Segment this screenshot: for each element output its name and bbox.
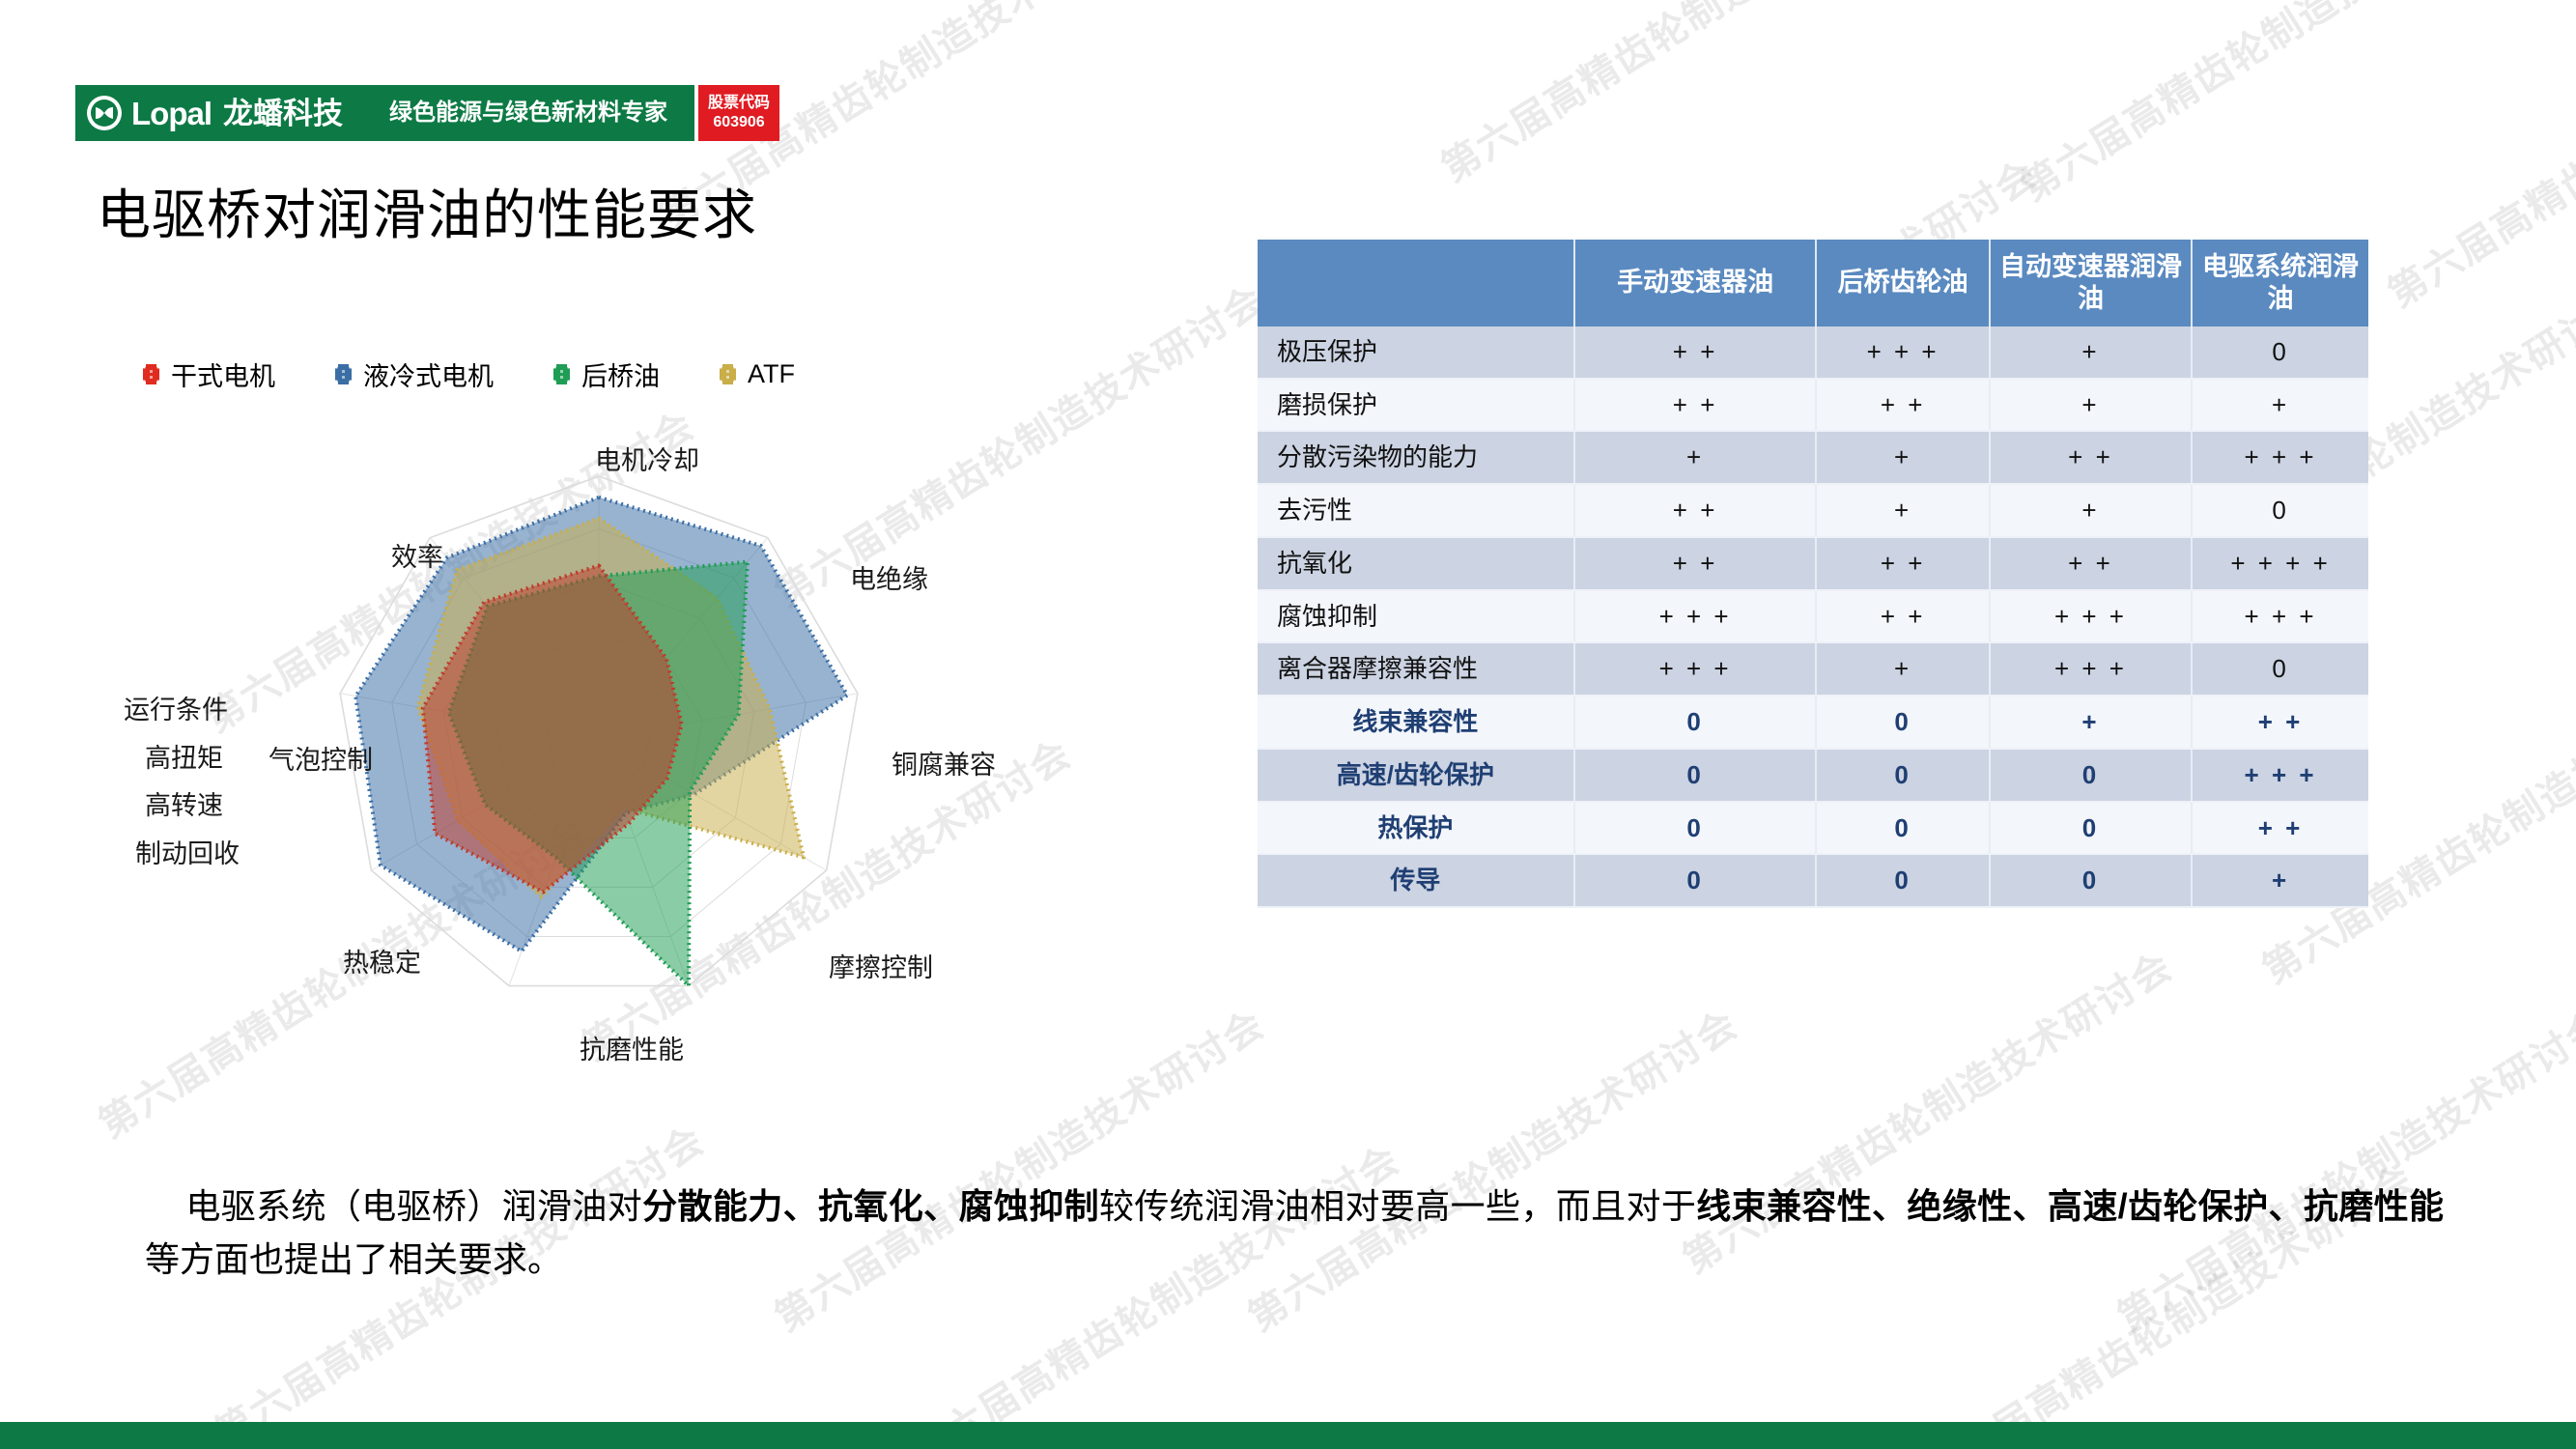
cell-value: + + + + <box>2230 549 2330 578</box>
table-row: 分散污染物的能力+++ ++ + + <box>1258 431 2368 484</box>
table-cell-r2-c1: + <box>1816 431 1989 484</box>
cell-value: 0 <box>2082 813 2099 842</box>
table-row: 高速/齿轮保护000+ + + <box>1258 749 2368 802</box>
page-title: 电驱桥对润滑油的性能要求 <box>97 172 757 250</box>
table-cell-r10-c2: 0 <box>1990 854 2192 907</box>
legend-label: 液冷式电机 <box>363 355 494 393</box>
cell-value: + + <box>1881 390 1926 419</box>
brand-name-cn: 龙蟠科技 <box>223 99 343 128</box>
table-cell-r7-c2: + <box>1990 696 2192 749</box>
table-cell-r0-c1: + + + <box>1816 327 1989 379</box>
table-cell-r8-c1: 0 <box>1816 749 1989 802</box>
table-cell-r2-c2: + + <box>1990 431 2192 484</box>
radar-axis-label-11: 效率 <box>391 536 443 574</box>
cell-value: + + + <box>1659 602 1732 631</box>
table-cell-r0-c0: + + <box>1574 327 1817 379</box>
table-cell-r1-c2: + <box>1990 379 2192 432</box>
table-row: 热保护000+ + <box>1258 802 2368 855</box>
caption-segment-2: 较传统润滑油相对要高一些，而且对于 <box>1099 1186 1696 1226</box>
summary-caption: 电驱系统（电驱桥）润滑油对分散能力、抗氧化、腐蚀抑制较传统润滑油相对要高一些，而… <box>145 1180 2444 1286</box>
cell-value: 0 <box>2272 496 2288 525</box>
table-header: 手动变速器油后桥齿轮油自动变速器润滑油电驱系统润滑油 <box>1258 240 2368 327</box>
cell-value: + + <box>1881 549 1926 578</box>
legend-item-2: 后桥油 <box>553 355 660 393</box>
cell-value: 0 <box>1686 813 1703 842</box>
cell-value: 0 <box>1894 866 1911 895</box>
radar-axis-label-4: 抗磨性能 <box>580 1029 684 1066</box>
cell-value: + + <box>2258 813 2304 842</box>
lopal-swirl-icon <box>87 96 122 130</box>
table-row-header: 腐蚀抑制 <box>1258 590 1574 643</box>
cell-value: 0 <box>2272 337 2288 366</box>
cell-value: + + + <box>2054 654 2127 683</box>
caption-segment-1: 分散能力、抗氧化、腐蚀抑制 <box>642 1186 1099 1226</box>
table-cell-r9-c0: 0 <box>1574 802 1817 855</box>
cell-value: 0 <box>1894 760 1911 789</box>
table-row-header: 磨损保护 <box>1258 379 1574 432</box>
watermark-text: 第六届高精齿轮制造技术研讨会 <box>897 1129 1408 1449</box>
table-cell-r10-c3: + <box>2192 854 2368 907</box>
radar-legend: 干式电机液冷式电机后桥油ATF <box>143 355 795 393</box>
radar-axis-label-1: 电绝缘 <box>850 558 928 596</box>
radar-axis-label-0: 电机冷却 <box>595 440 699 477</box>
table-row: 极压保护+ ++ + ++0 <box>1258 327 2368 379</box>
table-col-header-2: 后桥齿轮油 <box>1816 240 1989 327</box>
caption-segment-0: 电驱系统（电驱桥）润滑油对 <box>185 1186 642 1226</box>
caption-segment-4: 等方面也提出了相关要求。 <box>145 1239 562 1279</box>
cell-value: + <box>1686 442 1704 471</box>
table-row-header: 极压保护 <box>1258 327 1574 379</box>
table-cell-r4-c0: + + <box>1574 537 1817 590</box>
cell-value: + + + <box>1867 337 1939 366</box>
radar-axis-label-2: 铜腐兼容 <box>892 744 996 781</box>
watermark-text: 第六届高精齿轮制造技术研讨会 <box>2008 0 2519 212</box>
cell-value: 0 <box>1894 813 1911 842</box>
cell-value: + <box>2081 390 2099 419</box>
table-row-header: 离合器摩擦兼容性 <box>1258 642 1574 696</box>
cell-value: 0 <box>1686 707 1703 736</box>
table-row-header: 热保护 <box>1258 802 1574 855</box>
table-row: 去污性+ +++0 <box>1258 484 2368 537</box>
cell-value: + + <box>2068 549 2113 578</box>
legend-item-1: 液冷式电机 <box>335 355 494 393</box>
legend-swatch-icon <box>553 364 570 384</box>
cell-value: + + + <box>1659 654 1732 683</box>
table-corner-cell <box>1258 240 1574 327</box>
cell-value: 0 <box>2272 654 2288 683</box>
cell-value: + + <box>1673 496 1718 525</box>
cell-value: + + <box>1881 602 1926 631</box>
radar-axis-label-5: 热稳定 <box>343 942 421 980</box>
table-cell-r3-c0: + + <box>1574 484 1817 537</box>
table-cell-r7-c3: + + <box>2192 696 2368 749</box>
table-row-header: 抗氧化 <box>1258 537 1574 590</box>
table-row: 磨损保护+ ++ +++ <box>1258 379 2368 432</box>
cell-value: + <box>1894 654 1911 683</box>
watermark-text: 第六届高精齿轮制造技术研讨会 <box>1235 994 1746 1343</box>
table-cell-r3-c3: 0 <box>2192 484 2368 537</box>
table-cell-r4-c3: + + + + <box>2192 537 2368 590</box>
legend-label: 干式电机 <box>171 355 275 393</box>
table-row-header: 去污性 <box>1258 484 1574 537</box>
cell-value: + <box>2081 337 2099 366</box>
table-cell-r8-c0: 0 <box>1574 749 1817 802</box>
table-cell-r1-c0: + + <box>1574 379 1817 432</box>
cell-value: + <box>2272 866 2289 895</box>
stock-code-label: 股票代码 <box>708 94 770 113</box>
radar-axis-label-6: 气泡控制 <box>269 739 373 777</box>
table-cell-r1-c3: + <box>2192 379 2368 432</box>
table-row: 腐蚀抑制+ + ++ ++ + ++ + + <box>1258 590 2368 643</box>
cell-value: 0 <box>1686 866 1703 895</box>
table-row-header: 线束兼容性 <box>1258 696 1574 749</box>
table-row: 传导000+ <box>1258 854 2368 907</box>
cell-value: + + <box>1673 549 1718 578</box>
table-cell-r2-c3: + + + <box>2192 431 2368 484</box>
legend-label: 后桥油 <box>581 355 660 393</box>
table-cell-r7-c0: 0 <box>1574 696 1817 749</box>
cell-value: + <box>1894 442 1911 471</box>
table-cell-r5-c0: + + + <box>1574 590 1817 643</box>
watermark-text: 第六届高精齿轮制造技术研讨会 <box>2375 0 2576 318</box>
table-cell-r5-c1: + + <box>1816 590 1989 643</box>
table-cell-r2-c0: + <box>1574 431 1817 484</box>
table-cell-r6-c2: + + + <box>1990 642 2192 696</box>
table-body: 极压保护+ ++ + ++0磨损保护+ ++ +++分散污染物的能力+++ ++… <box>1258 327 2368 907</box>
stock-code-badge: 股票代码 603906 <box>698 85 779 141</box>
table-cell-r4-c1: + + <box>1816 537 1989 590</box>
cell-value: + + <box>2258 707 2304 736</box>
cell-value: + + <box>1673 337 1718 366</box>
brand-name-en: Lopal <box>131 98 212 129</box>
cell-value: + <box>2081 496 2099 525</box>
table-cell-r10-c0: 0 <box>1574 854 1817 907</box>
table-cell-r3-c1: + <box>1816 484 1989 537</box>
cell-value: 0 <box>2082 866 2099 895</box>
table-cell-r6-c1: + <box>1816 642 1989 696</box>
cell-value: + + + <box>2245 760 2317 789</box>
brand-tagline: 绿色能源与绿色新材料专家 <box>389 101 667 125</box>
cell-value: + <box>2081 707 2099 736</box>
legend-swatch-icon <box>143 364 159 384</box>
radar-axis-label-3: 摩擦控制 <box>829 947 933 984</box>
table-col-header-3: 自动变速器润滑油 <box>1990 240 2192 327</box>
table-cell-r8-c2: 0 <box>1990 749 2192 802</box>
performance-requirements-table: 手动变速器油后桥齿轮油自动变速器润滑油电驱系统润滑油 极压保护+ ++ + ++… <box>1258 240 2368 908</box>
legend-item-3: ATF <box>720 359 795 389</box>
watermark-text: 第六届高精齿轮制造技术研讨会 <box>1429 0 1939 192</box>
table-cell-r0-c3: 0 <box>2192 327 2368 379</box>
table-cell-r5-c3: + + + <box>2192 590 2368 643</box>
cell-value: + + + <box>2245 602 2317 631</box>
legend-swatch-icon <box>335 364 352 384</box>
legend-swatch-icon <box>720 364 736 384</box>
cell-value: + + + <box>2245 442 2317 471</box>
footer-bar <box>0 1422 2576 1449</box>
cell-value: + + <box>1673 390 1718 419</box>
table-cell-r9-c2: 0 <box>1990 802 2192 855</box>
radar-axis-label-8: 高扭矩 <box>145 737 223 775</box>
radar-axis-label-10: 制动回收 <box>135 833 240 870</box>
cell-value: + + <box>2068 442 2113 471</box>
brand-green-block: Lopal 龙蟠科技 绿色能源与绿色新材料专家 <box>75 85 694 141</box>
legend-label: ATF <box>748 359 795 389</box>
stock-code-value: 603906 <box>713 113 764 132</box>
table-cell-r8-c3: + + + <box>2192 749 2368 802</box>
table-cell-r5-c2: + + + <box>1990 590 2192 643</box>
table-row: 线束兼容性00++ + <box>1258 696 2368 749</box>
table-cell-r3-c2: + <box>1990 484 2192 537</box>
cell-value: + <box>2272 390 2289 419</box>
table-cell-r7-c1: 0 <box>1816 696 1989 749</box>
table-row-header: 分散污染物的能力 <box>1258 431 1574 484</box>
radar-axis-label-9: 高转速 <box>145 784 223 822</box>
table-cell-r6-c3: 0 <box>2192 642 2368 696</box>
table-header-row: 手动变速器油后桥齿轮油自动变速器润滑油电驱系统润滑油 <box>1258 240 2368 327</box>
table-cell-r9-c3: + + <box>2192 802 2368 855</box>
cell-value: 0 <box>1686 760 1703 789</box>
caption-segment-3: 线束兼容性、绝缘性、高速/齿轮保护、抗磨性能 <box>1696 1186 2444 1226</box>
table-cell-r9-c1: 0 <box>1816 802 1989 855</box>
table-row-header: 传导 <box>1258 854 1574 907</box>
table-row: 抗氧化+ ++ ++ ++ + + + <box>1258 537 2368 590</box>
table-row-header: 高速/齿轮保护 <box>1258 749 1574 802</box>
radar-axis-label-7: 运行条件 <box>124 689 228 726</box>
table-col-header-4: 电驱系统润滑油 <box>2192 240 2368 327</box>
legend-item-0: 干式电机 <box>143 355 275 393</box>
table-cell-r1-c1: + + <box>1816 379 1989 432</box>
table-cell-r6-c0: + + + <box>1574 642 1817 696</box>
brand-logo-bar: Lopal 龙蟠科技 绿色能源与绿色新材料专家 股票代码 603906 <box>75 85 779 141</box>
cell-value: + <box>1894 496 1911 525</box>
table-cell-r0-c2: + <box>1990 327 2192 379</box>
table-cell-r10-c1: 0 <box>1816 854 1989 907</box>
cell-value: 0 <box>2082 760 2099 789</box>
table-cell-r4-c2: + + <box>1990 537 2192 590</box>
table-row: 离合器摩擦兼容性+ + +++ + +0 <box>1258 642 2368 696</box>
table-col-header-1: 手动变速器油 <box>1574 240 1817 327</box>
watermark-text: 第六届高精齿轮制造技术研讨会 <box>2105 994 2576 1343</box>
cell-value: + + + <box>2054 602 2127 631</box>
cell-value: 0 <box>1894 707 1911 736</box>
